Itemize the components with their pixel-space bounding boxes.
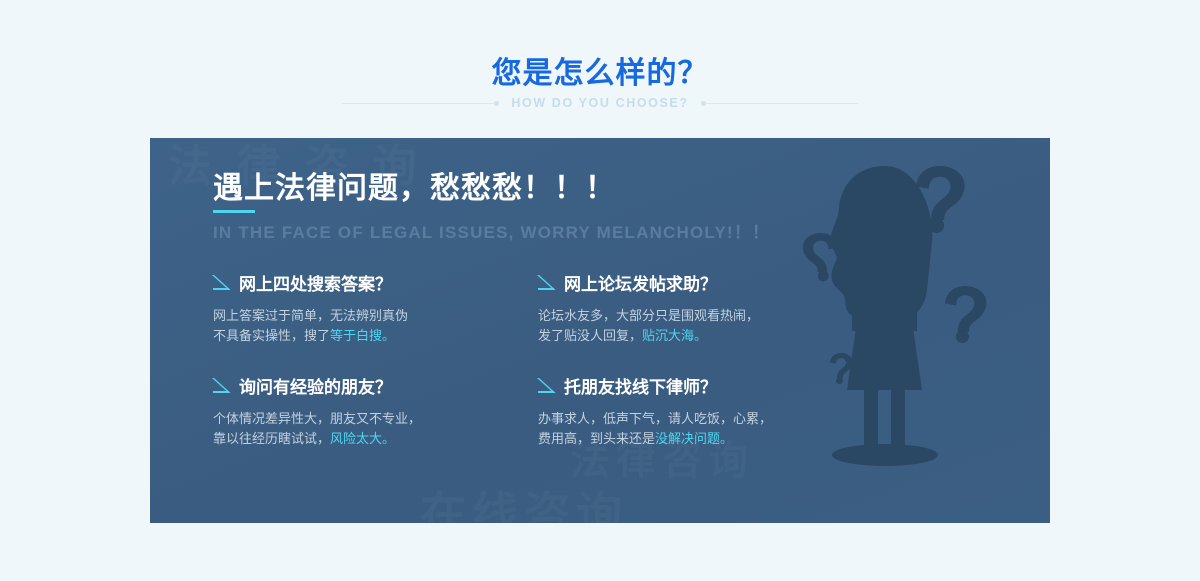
item-body-line: 靠以往经历瞎试试，风险太大。 <box>213 429 538 449</box>
item-body-line: 个体情况差异性大，朋友又不专业， <box>213 409 538 429</box>
item-body-highlight: 等于白搜 <box>330 328 382 343</box>
arrow-down-right-icon <box>538 275 555 290</box>
item-body-text: 个体情况差异性大，朋友又不专业， <box>213 411 421 426</box>
item-body-tail: 。 <box>720 431 733 446</box>
pain-point-list: 网上四处搜索答案？ 网上答案过于简单，无法辨别真伪 不具备实操性，搜了等于白搜。… <box>213 270 853 476</box>
item-body-highlight: 贴沉大海 <box>642 328 694 343</box>
item-body: 个体情况差异性大，朋友又不专业， 靠以往经历瞎试试，风险太大。 <box>213 409 538 449</box>
section-subtitle: HOW DO YOU CHOOSE? <box>511 96 688 110</box>
item-body-text: 发了贴没人回复， <box>538 328 642 343</box>
item-title-row: 询问有经验的朋友？ <box>213 373 538 398</box>
list-item: 询问有经验的朋友？ 个体情况差异性大，朋友又不专业， 靠以往经历瞎试试，风险太大… <box>213 373 538 476</box>
panel-heading: 遇上法律问题，愁愁愁！！！ <box>213 163 616 207</box>
panel-subheading: IN THE FACE OF LEGAL ISSUES, WORRY MELAN… <box>213 218 770 243</box>
page-title: 您是怎么样的？ <box>0 48 1200 92</box>
decorative-line-right <box>703 103 858 104</box>
item-body-text: 费用高，到头来还是 <box>538 431 655 446</box>
item-body-line: 不具备实操性，搜了等于白搜。 <box>213 326 538 346</box>
confused-woman-silhouette-icon <box>790 138 1050 523</box>
list-item: 网上四处搜索答案？ 网上答案过于简单，无法辨别真伪 不具备实操性，搜了等于白搜。 <box>213 270 538 373</box>
item-body-line: 网上答案过于简单，无法辨别真伪 <box>213 306 538 326</box>
item-body-tail: 。 <box>382 328 395 343</box>
arrow-down-right-icon <box>213 378 230 393</box>
item-body-tail: 。 <box>382 431 395 446</box>
item-title-text: 询问有经验的朋友？ <box>239 373 392 398</box>
item-title-text: 网上论坛发帖求助？ <box>564 270 717 295</box>
item-title-text: 托朋友找线下律师？ <box>564 373 717 398</box>
decorative-line-left <box>342 103 497 104</box>
arrow-down-right-icon <box>213 275 230 290</box>
item-body-text: 办事求人，低声下气，请人吃饭，心累， <box>538 411 772 426</box>
item-body-tail: 。 <box>694 328 707 343</box>
content-panel: 法 律 咨 询 法律咨询 在线咨询 遇上法律问题，愁愁愁！！！ IN THE F… <box>150 138 1050 523</box>
watermark-text: 在线咨询 <box>420 478 628 523</box>
item-body-text: 靠以往经历瞎试试， <box>213 431 330 446</box>
item-body-text: 网上答案过于简单，无法辨别真伪 <box>213 308 408 323</box>
item-body: 网上答案过于简单，无法辨别真伪 不具备实操性，搜了等于白搜。 <box>213 306 538 346</box>
item-body-text: 不具备实操性，搜了 <box>213 328 330 343</box>
section-header: 您是怎么样的？ HOW DO YOU CHOOSE? <box>0 0 1200 138</box>
item-title-row: 网上四处搜索答案？ <box>213 270 538 295</box>
arrow-down-right-icon <box>538 378 555 393</box>
item-body-highlight: 没解决问题 <box>655 431 720 446</box>
item-title-text: 网上四处搜索答案？ <box>239 270 392 295</box>
section-subtitle-row: HOW DO YOU CHOOSE? <box>0 92 1200 114</box>
item-body-highlight: 风险太大 <box>330 431 382 446</box>
item-body-text: 论坛水友多，大部分只是围观看热闹， <box>538 308 759 323</box>
heading-accent-rule <box>213 210 255 213</box>
